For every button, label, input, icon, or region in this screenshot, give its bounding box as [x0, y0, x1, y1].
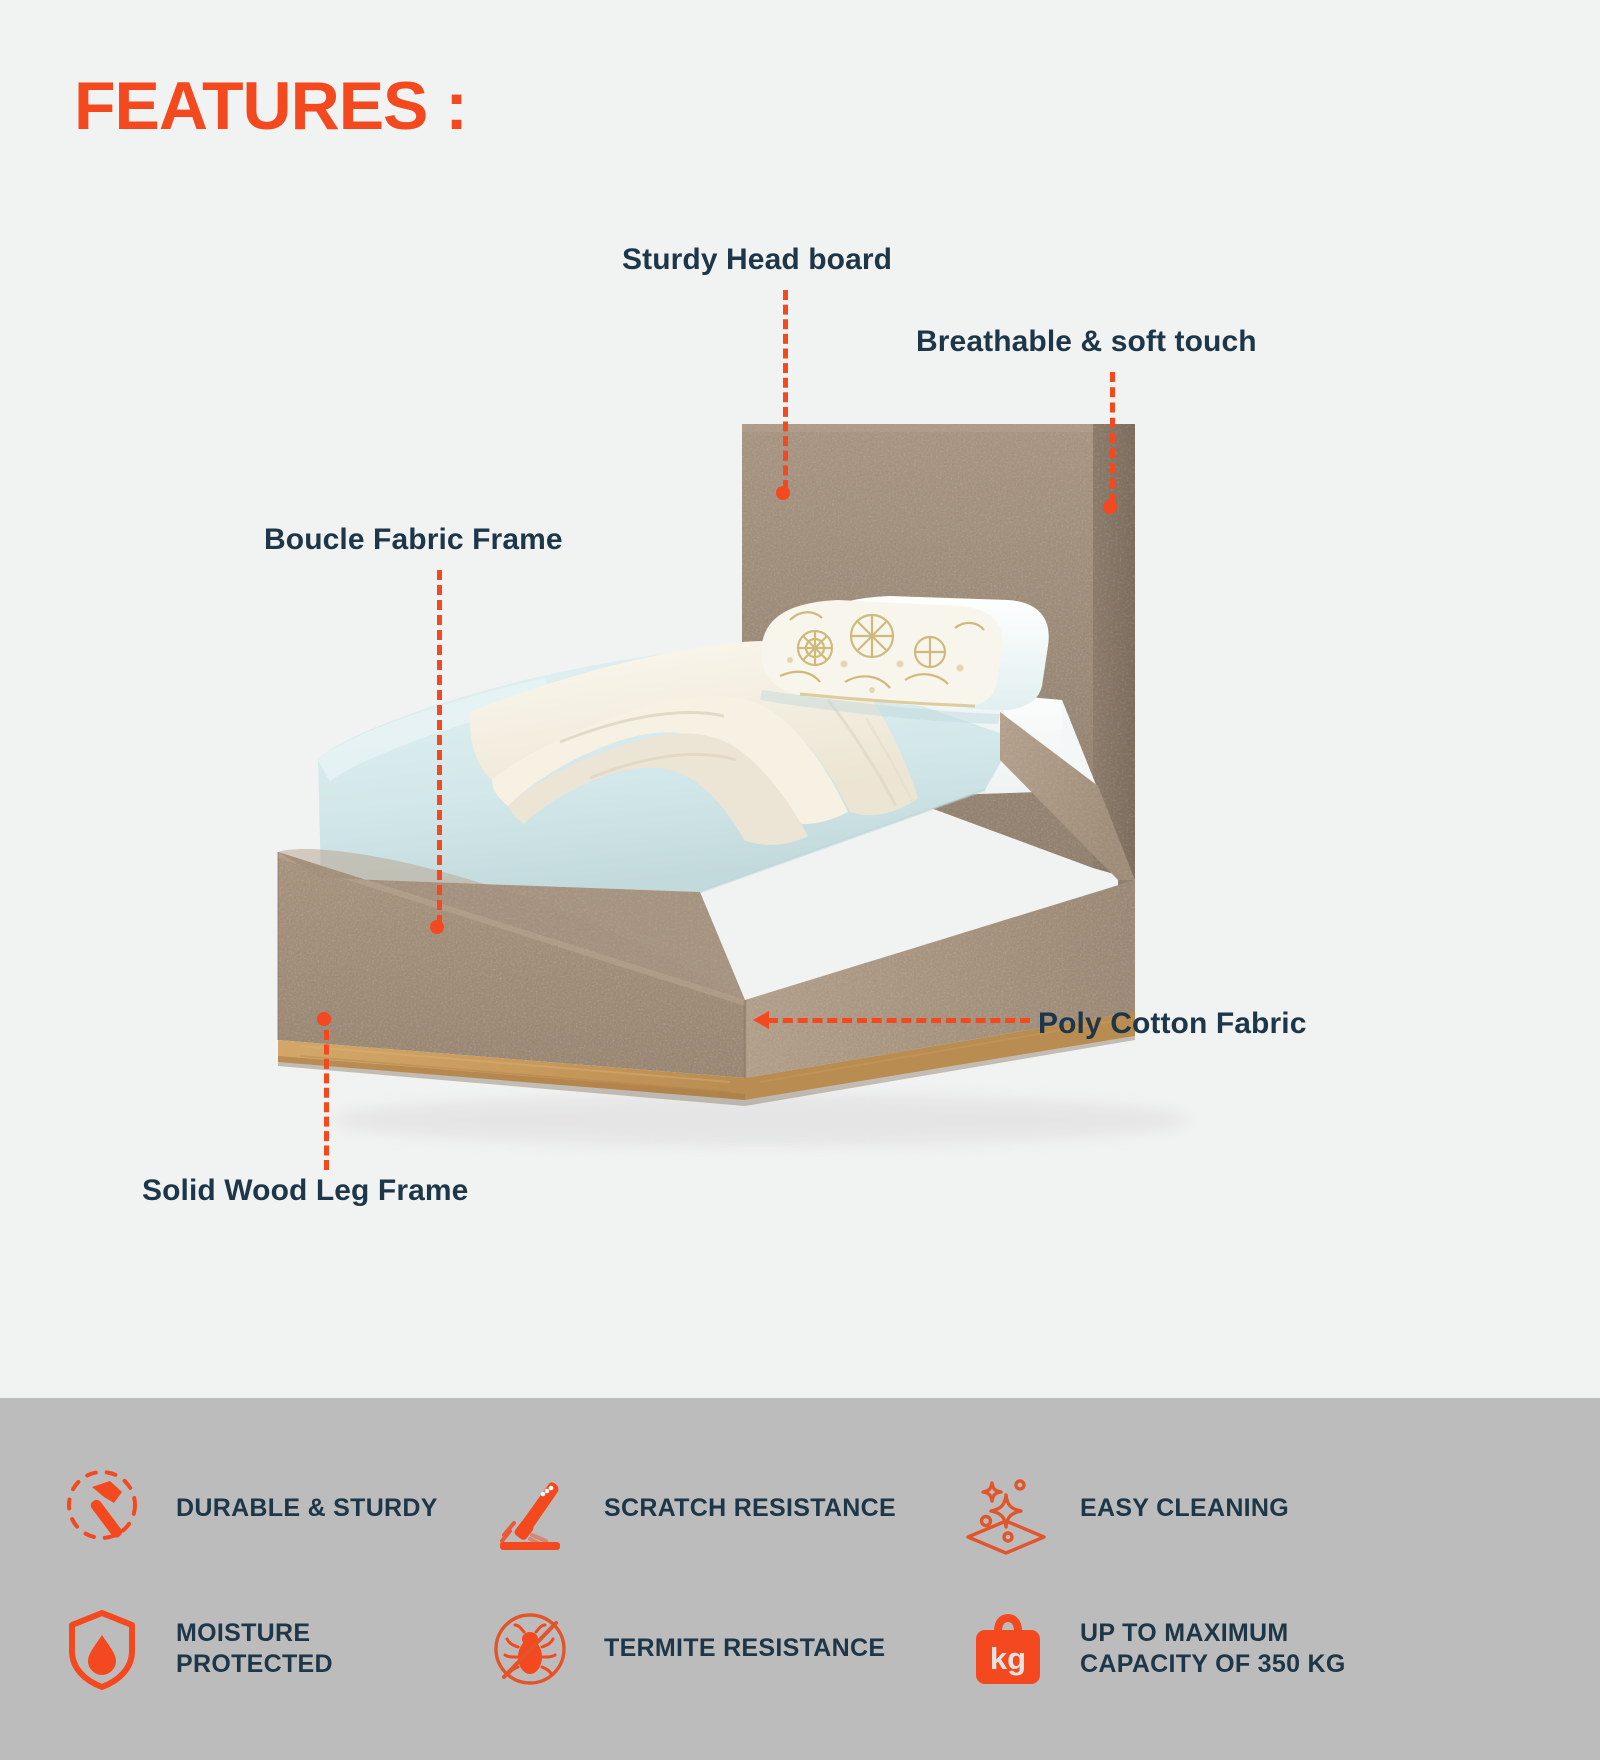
feature-label: UP TO MAXIMUM CAPACITY OF 350 KG — [1080, 1618, 1346, 1681]
feature-item-moisture-protected: MOISTURE PROTECTED — [0, 1597, 470, 1701]
feature-label: MOISTURE PROTECTED — [176, 1618, 470, 1681]
feature-row-1: DURABLE & STURDY — [0, 1439, 1600, 1579]
sparkle-clean-icon — [954, 1457, 1058, 1561]
feature-band: DURABLE & STURDY — [0, 1398, 1600, 1760]
callout-dot-boucle-fabric-frame — [430, 920, 444, 934]
no-termite-icon — [478, 1597, 582, 1701]
callout-label-boucle-fabric-frame: Boucle Fabric Frame — [264, 523, 563, 557]
hero-section: FEATURES : — [0, 0, 1600, 1398]
hammer-icon — [50, 1457, 154, 1561]
feature-item-termite-resistance: TERMITE RESISTANCE — [470, 1597, 940, 1701]
callout-label-poly-cotton-fabric: Poly Cotton Fabric — [1038, 1007, 1306, 1041]
callout-dot-solid-wood-leg-frame — [317, 1012, 331, 1026]
callout-dot-breathable-soft-touch — [1103, 500, 1117, 514]
leader-line-boucle-fabric-frame — [437, 570, 442, 925]
svg-text:kg: kg — [990, 1641, 1026, 1676]
leader-line-breathable-soft-touch — [1110, 372, 1115, 504]
feature-label-line1: UP TO MAXIMUM — [1080, 1619, 1289, 1647]
leader-line-solid-wood-leg-frame — [324, 1030, 329, 1170]
feature-label-line2: CAPACITY OF 350 KG — [1080, 1650, 1346, 1678]
shield-droplet-icon — [50, 1597, 154, 1701]
leader-line-sturdy-head-board — [783, 290, 788, 490]
feature-row-2: MOISTURE PROTECTED — [0, 1579, 1600, 1719]
callout-label-sturdy-head-board: Sturdy Head board — [622, 243, 892, 277]
feature-item-easy-cleaning: EASY CLEANING — [940, 1457, 1500, 1561]
feature-item-scratch-resistance: SCRATCH RESISTANCE — [470, 1457, 940, 1561]
feature-label: TERMITE RESISTANCE — [604, 1633, 885, 1665]
callout-label-breathable-soft-touch: Breathable & soft touch — [916, 325, 1257, 359]
feature-label: DURABLE & STURDY — [176, 1493, 438, 1525]
feature-label: EASY CLEANING — [1080, 1493, 1289, 1525]
feature-label: SCRATCH RESISTANCE — [604, 1493, 896, 1525]
kg-weight-icon: kg — [954, 1597, 1058, 1701]
callout-arrow-poly-cotton-fabric — [753, 1011, 769, 1029]
knife-scratch-icon — [478, 1457, 582, 1561]
callout-label-solid-wood-leg-frame: Solid Wood Leg Frame — [142, 1174, 468, 1208]
feature-item-weight-capacity: kg UP TO MAXIMUM CAPACITY OF 350 KG — [940, 1597, 1500, 1701]
callout-dot-sturdy-head-board — [776, 486, 790, 500]
feature-item-durable-sturdy: DURABLE & STURDY — [0, 1457, 470, 1561]
leader-line-poly-cotton-fabric — [768, 1018, 1030, 1023]
